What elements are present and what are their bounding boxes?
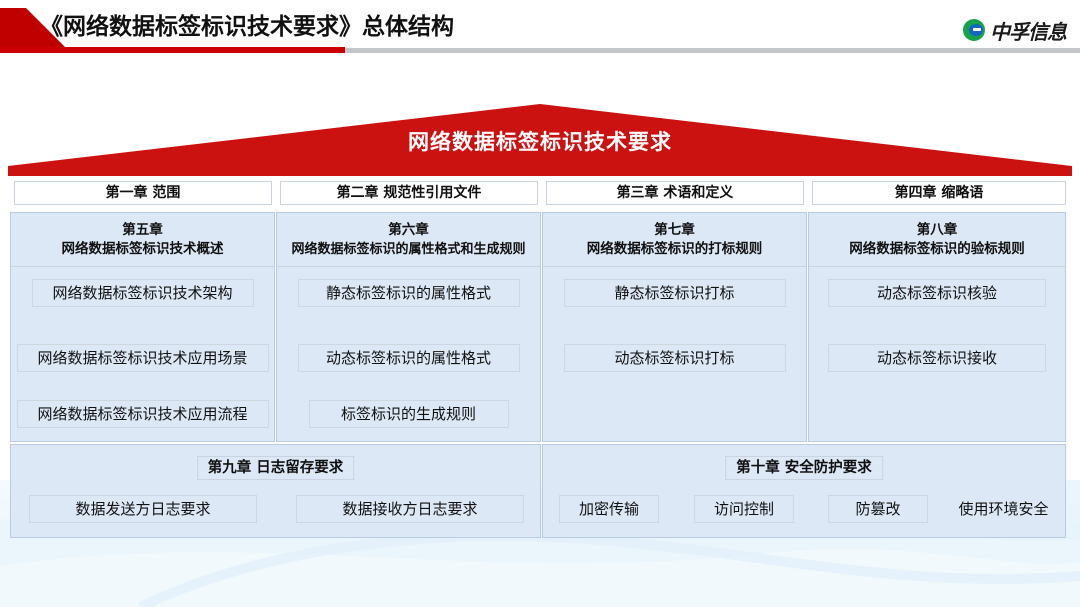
chapter-9-title: 第九章 日志留存要求	[197, 456, 355, 480]
chapter-7-number: 第七章	[654, 222, 695, 238]
chapter-8-header: 第八章 网络数据标签标识的验标规则	[809, 213, 1065, 267]
chapter-section-10: 第十章 安全防护要求 加密传输 访问控制 防篡改 使用环境安全	[542, 444, 1066, 538]
chapter-10-item-3[interactable]: 防篡改	[828, 495, 928, 523]
chapter-5-header: 第五章 网络数据标签标识技术概述	[11, 213, 274, 267]
chapter-6-name: 网络数据标签标识的属性格式和生成规则	[291, 242, 525, 257]
header-gray-rule	[345, 48, 1080, 53]
chapter-5-name: 网络数据标签标识技术概述	[62, 241, 224, 257]
chapter-10-item-1[interactable]: 加密传输	[559, 495, 659, 523]
structure-diagram: 第一章 范围 第二章 规范性引用文件 第三章 术语和定义 第四章 缩略语 第五章…	[10, 174, 1070, 538]
slide-header: 《网络数据标签标识技术要求》总体结构 中孚信息	[0, 0, 1080, 62]
header-red-rule	[0, 47, 345, 53]
page-title: 《网络数据标签标识技术要求》总体结构	[40, 11, 454, 43]
chapter-10-item-4[interactable]: 使用环境安全	[951, 495, 1056, 523]
chapter-7-item-2[interactable]: 动态标签标识打标	[564, 344, 786, 372]
chapter-6-item-2[interactable]: 动态标签标识的属性格式	[298, 344, 520, 372]
chapter-5-number: 第五章	[122, 222, 163, 238]
chapter-9-item-2[interactable]: 数据接收方日志要求	[296, 495, 524, 523]
chapter-column-7: 第七章 网络数据标签标识的打标规则 静态标签标识打标 动态标签标识打标	[542, 212, 807, 442]
chapter-6-item-1[interactable]: 静态标签标识的属性格式	[298, 279, 520, 307]
chapter-column-8: 第八章 网络数据标签标识的验标规则 动态标签标识核验 动态标签标识接收	[808, 212, 1066, 442]
chapter-10-item-2[interactable]: 访问控制	[694, 495, 794, 523]
chapter-7-name: 网络数据标签标识的打标规则	[587, 241, 763, 257]
chapter-5-item-1[interactable]: 网络数据标签标识技术架构	[32, 279, 254, 307]
main-chapter-row: 第五章 网络数据标签标识技术概述 网络数据标签标识技术架构 网络数据标签标识技术…	[10, 212, 1070, 442]
bottom-chapter-row: 第九章 日志留存要求 数据发送方日志要求 数据接收方日志要求 第十章 安全防护要…	[10, 444, 1070, 538]
company-logo-circle-icon	[963, 19, 985, 41]
chapter-9-item-1[interactable]: 数据发送方日志要求	[29, 495, 257, 523]
chapter-chip-4[interactable]: 第四章 缩略语	[812, 181, 1066, 205]
chapter-7-item-1[interactable]: 静态标签标识打标	[564, 279, 786, 307]
chapter-column-6: 第六章 网络数据标签标识的属性格式和生成规则 静态标签标识的属性格式 动态标签标…	[276, 212, 541, 442]
chapter-5-item-3[interactable]: 网络数据标签标识技术应用流程	[17, 400, 269, 428]
chapter-8-name: 网络数据标签标识的验标规则	[849, 241, 1025, 257]
chapter-8-number: 第八章	[917, 222, 958, 238]
chapter-5-item-2[interactable]: 网络数据标签标识技术应用场景	[17, 344, 269, 372]
chapter-chip-1[interactable]: 第一章 范围	[14, 181, 272, 205]
top-chapter-row: 第一章 范围 第二章 规范性引用文件 第三章 术语和定义 第四章 缩略语	[10, 174, 1070, 212]
chapter-7-header: 第七章 网络数据标签标识的打标规则	[543, 213, 806, 267]
chapter-8-item-1[interactable]: 动态标签标识核验	[828, 279, 1046, 307]
chapter-chip-3[interactable]: 第三章 术语和定义	[546, 181, 804, 205]
chapter-chip-2[interactable]: 第二章 规范性引用文件	[280, 181, 538, 205]
chapter-6-header: 第六章 网络数据标签标识的属性格式和生成规则	[277, 213, 540, 267]
chapter-10-title: 第十章 安全防护要求	[725, 456, 883, 480]
slide-canvas: 《网络数据标签标识技术要求》总体结构 中孚信息 网络数据标签标识技术要求 第一章…	[0, 0, 1080, 607]
company-logo: 中孚信息	[963, 17, 1066, 43]
chapter-column-5: 第五章 网络数据标签标识技术概述 网络数据标签标识技术架构 网络数据标签标识技术…	[10, 212, 275, 442]
chapter-section-9: 第九章 日志留存要求 数据发送方日志要求 数据接收方日志要求	[10, 444, 541, 538]
chapter-8-item-2[interactable]: 动态标签标识接收	[828, 344, 1046, 372]
chapter-6-item-3[interactable]: 标签标识的生成规则	[309, 400, 509, 428]
chapter-6-number: 第六章	[388, 222, 429, 238]
company-logo-text: 中孚信息	[990, 16, 1066, 45]
diagram-main-title: 网络数据标签标识技术要求	[0, 126, 1080, 156]
